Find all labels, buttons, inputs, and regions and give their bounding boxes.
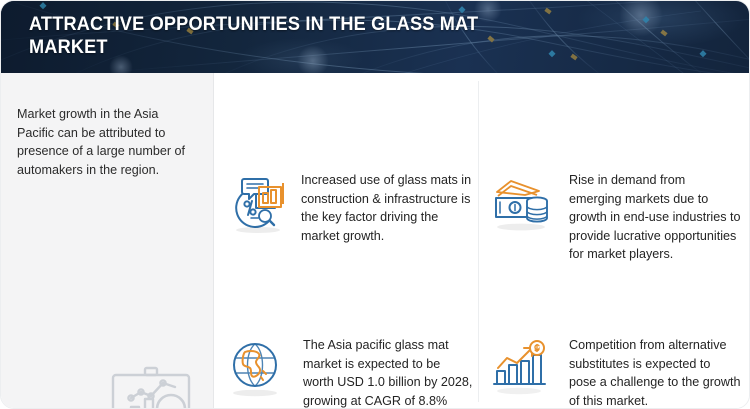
vertical-divider-middle [478,81,479,402]
left-panel-description: Market growth in the Asia Pacific can be… [17,105,195,179]
pie-percent-bar-chart-search-icon [225,173,289,235]
vertical-divider-left [213,73,214,409]
insight-cell-4-text: Competition from alternative substitutes… [569,336,741,409]
presentation-chart-search-icon [105,365,201,409]
money-banknote-coins-icon [491,173,555,235]
infographic-card: ATTRACTIVE OPPORTUNITIES IN THE GLASS MA… [0,0,750,409]
page-title: ATTRACTIVE OPPORTUNITIES IN THE GLASS MA… [29,13,550,59]
insight-cell-2-text: Rise in demand from emerging markets due… [569,171,741,264]
left-region-panel: Market growth in the Asia Pacific can be… [1,73,213,409]
content-area: Market growth in the Asia Pacific can be… [1,73,750,409]
header-banner: ATTRACTIVE OPPORTUNITIES IN THE GLASS MA… [1,1,750,73]
insight-cell-3-text: The Asia pacific glass mat market is exp… [303,336,473,409]
globe-icon [225,338,289,400]
bar-chart-growth-dollar-icon [491,338,555,400]
insight-cell-1-text: Increased use of glass mats in construct… [301,171,473,245]
